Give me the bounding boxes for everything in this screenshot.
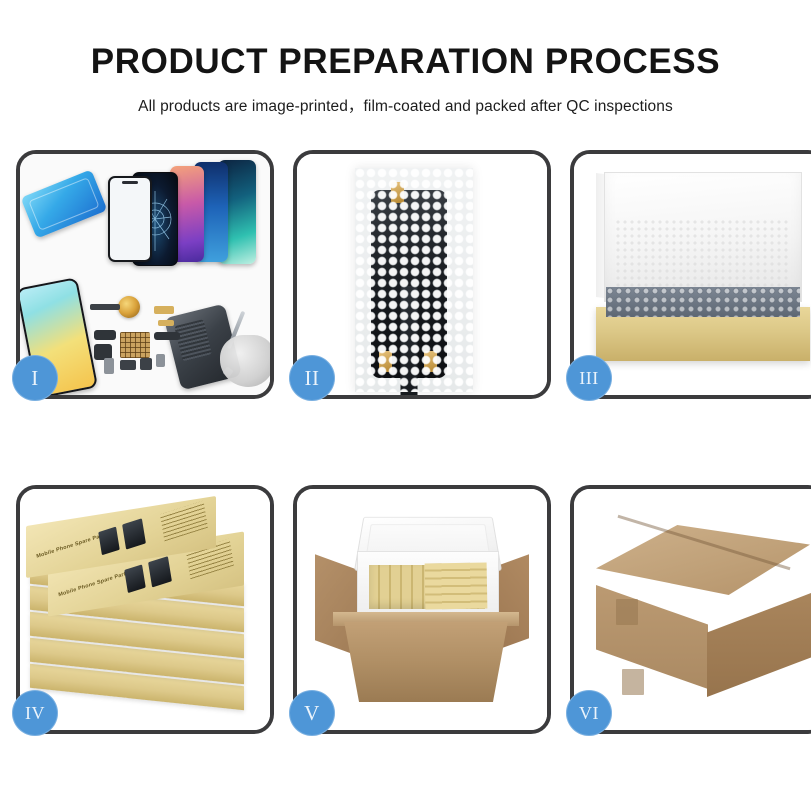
white-foam-lid xyxy=(604,172,802,302)
copper-coil-part xyxy=(118,296,140,318)
box-text-block-top xyxy=(160,501,208,542)
step-numeral-3: III xyxy=(579,369,598,387)
step-4-image: Mobile Phone Spare Parts Mobile Phone Sp… xyxy=(20,489,270,730)
stacked-gold-boxes-scene: Mobile Phone Spare Parts Mobile Phone Sp… xyxy=(20,489,270,730)
product-preparation-process-infographic: PRODUCT PREPARATION PROCESS All products… xyxy=(0,0,811,811)
carton-tape-lower xyxy=(622,669,644,695)
lcd-flex-tail xyxy=(401,286,418,395)
step-numeral-5: V xyxy=(304,703,320,724)
spare-part-gold-clip xyxy=(158,320,174,326)
sealed-carton-scene xyxy=(574,489,811,730)
bubble-wrapped-screen-scene xyxy=(297,154,547,395)
box-thumb-b-top xyxy=(122,518,146,549)
step-6-image xyxy=(574,489,811,730)
ic-chip-part xyxy=(120,332,150,358)
box-thumb-a-lower xyxy=(124,564,146,593)
process-step-panel-2: II xyxy=(293,150,551,399)
process-step-panel-3: III xyxy=(570,150,811,399)
step-badge-1: I xyxy=(12,355,58,401)
process-step-panel-6: VI xyxy=(570,485,811,734)
page-subtitle: All products are image-printed，film-coat… xyxy=(0,94,811,116)
carton-tape-upper xyxy=(616,599,638,625)
step-numeral-1: I xyxy=(31,368,39,389)
open-gold-box-scene xyxy=(574,154,811,395)
process-steps-grid: I II xyxy=(16,150,796,734)
carton-with-foam-scene xyxy=(297,489,547,730)
step-numeral-6: VI xyxy=(579,704,599,722)
spare-part-speaker xyxy=(120,360,136,370)
gold-connector-right xyxy=(424,351,437,372)
step-numeral-2: II xyxy=(305,368,320,389)
spare-part-strip xyxy=(90,304,120,310)
gold-connector-top xyxy=(391,182,404,203)
step-badge-2: II xyxy=(289,355,335,401)
header: PRODUCT PREPARATION PROCESS All products… xyxy=(0,44,811,116)
process-step-panel-5: V xyxy=(293,485,551,734)
step-2-image xyxy=(297,154,547,395)
process-step-panel-1: I xyxy=(16,150,274,399)
step-3-image xyxy=(574,154,811,395)
step-numeral-4: IV xyxy=(25,704,45,722)
bubble-wrap-package xyxy=(355,168,473,392)
step-badge-4: IV xyxy=(12,690,58,736)
spare-part-ribbon xyxy=(154,332,180,340)
step-badge-6: VI xyxy=(566,690,612,736)
step-5-image xyxy=(297,489,547,730)
box-thumb-b-lower xyxy=(148,556,172,587)
spare-part-gold-connector xyxy=(154,306,174,314)
carton-front-face xyxy=(596,585,708,689)
spare-part-flex-cable xyxy=(94,330,116,340)
step-badge-3: III xyxy=(566,355,612,401)
process-step-panel-4: Mobile Phone Spare Parts Mobile Phone Sp… xyxy=(16,485,274,734)
carton-side-face xyxy=(707,593,811,697)
hand-holding-part xyxy=(220,335,270,387)
box-label-top: Mobile Phone Spare Parts xyxy=(36,532,107,560)
gold-connector-left xyxy=(379,351,392,372)
box-thumb-a-top xyxy=(98,527,120,556)
phone-parts-collage xyxy=(20,154,270,395)
spare-part-camera xyxy=(104,358,114,374)
page-title: PRODUCT PREPARATION PROCESS xyxy=(0,44,811,81)
gold-boxes-inside-b xyxy=(425,562,488,609)
carton-body xyxy=(333,622,519,702)
lcd-screen-inside xyxy=(371,190,447,378)
box-label-lower: Mobile Phone Spare Parts xyxy=(58,570,129,598)
spare-part-button xyxy=(140,358,152,370)
bubble-wrapped-contents xyxy=(606,287,800,317)
step-badge-5: V xyxy=(289,690,335,736)
glass-panel xyxy=(108,176,152,262)
bubble-texture-overlay xyxy=(355,168,473,392)
spare-part-battery-clip xyxy=(156,354,165,367)
carton-top-face xyxy=(596,525,810,595)
blue-film-screen xyxy=(21,169,108,238)
gold-box-tray xyxy=(596,307,810,361)
step-1-image xyxy=(20,154,270,395)
